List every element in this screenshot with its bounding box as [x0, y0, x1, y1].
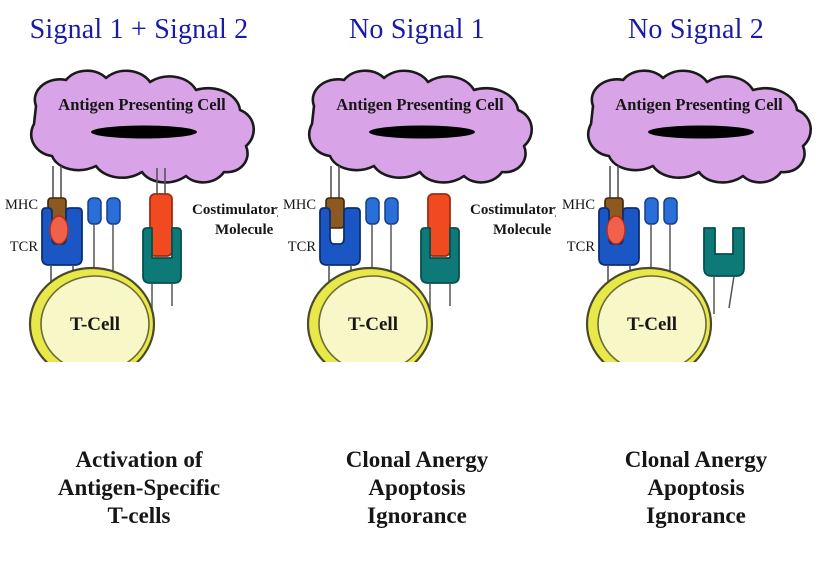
- costimulatory-label-line1: Costimulatory: [192, 202, 278, 218]
- outcome-line: Apoptosis: [278, 474, 556, 502]
- apc-nucleus: [369, 126, 475, 139]
- outcome-text: Clonal AnergyApoptosisIgnorance: [557, 446, 835, 530]
- outcome-line: T-cells: [0, 502, 278, 530]
- antigen-peptide: [607, 216, 625, 244]
- tcell-label: T-Cell: [70, 314, 120, 335]
- panel-no-signal-1: No Signal 1Antigen Presenting CellT-Cell…: [278, 0, 556, 571]
- cd28-receptor: [704, 228, 744, 276]
- tcell-label: T-Cell: [348, 314, 398, 335]
- apc-nucleus: [91, 126, 197, 139]
- panel-no-signal-2: No Signal 2Antigen Presenting CellT-Cell…: [557, 0, 835, 571]
- costimulatory-molecule: [428, 194, 450, 256]
- adhesion-molecule-1: [88, 198, 101, 224]
- costimulatory-label-line1: Costimulatory: [470, 202, 556, 218]
- tcell-label: T-Cell: [627, 314, 677, 335]
- mhc-label: MHC: [283, 197, 316, 213]
- panel-title: No Signal 2: [557, 14, 835, 46]
- outcome-line: Ignorance: [278, 502, 556, 530]
- panel-title: Signal 1 + Signal 2: [0, 14, 278, 46]
- adhesion-molecule-2: [107, 198, 120, 224]
- outcome-line: Clonal Anergy: [557, 446, 835, 474]
- apc-label: Antigen Presenting Cell: [58, 95, 226, 114]
- tcr-label: TCR: [567, 239, 596, 255]
- diagram-stage: Antigen Presenting CellT-CellMHCTCR: [557, 62, 835, 362]
- mhc-label: MHC: [562, 197, 595, 213]
- adhesion-molecule-2: [664, 198, 677, 224]
- apc-label: Antigen Presenting Cell: [615, 95, 783, 114]
- tcr-label: TCR: [10, 239, 39, 255]
- tcell-activation-figure: Signal 1 + Signal 2Antigen Presenting Ce…: [0, 0, 835, 571]
- outcome-line: Activation of: [0, 446, 278, 474]
- diagram-stage: Antigen Presenting CellT-CellMHCTCRCosti…: [0, 62, 278, 362]
- adhesion-molecule-2: [385, 198, 398, 224]
- cell-interaction-diagram: Antigen Presenting CellT-CellMHCTCRCosti…: [0, 62, 278, 362]
- cell-interaction-diagram: Antigen Presenting CellT-CellMHCTCR: [557, 62, 835, 362]
- costimulatory-label-line2: Molecule: [493, 222, 552, 238]
- outcome-line: Clonal Anergy: [278, 446, 556, 474]
- costimulatory-molecule: [150, 194, 172, 256]
- cell-interaction-diagram: Antigen Presenting CellT-CellMHCTCRCosti…: [278, 62, 556, 362]
- adhesion-molecule-1: [645, 198, 658, 224]
- tcr-label: TCR: [288, 239, 317, 255]
- outcome-line: Apoptosis: [557, 474, 835, 502]
- diagram-stage: Antigen Presenting CellT-CellMHCTCRCosti…: [278, 62, 556, 362]
- costimulatory-label-line2: Molecule: [215, 222, 274, 238]
- apc-nucleus: [648, 126, 754, 139]
- panel-title: No Signal 1: [278, 14, 556, 46]
- panel-signal-1-plus-2: Signal 1 + Signal 2Antigen Presenting Ce…: [0, 0, 278, 571]
- outcome-line: Antigen-Specific: [0, 474, 278, 502]
- outcome-line: Ignorance: [557, 502, 835, 530]
- outcome-text: Activation ofAntigen-SpecificT-cells: [0, 446, 278, 530]
- apc-label: Antigen Presenting Cell: [336, 95, 504, 114]
- outcome-text: Clonal AnergyApoptosisIgnorance: [278, 446, 556, 530]
- cd28-leg-right: [729, 276, 734, 308]
- mhc-label: MHC: [5, 197, 38, 213]
- adhesion-molecule-1: [366, 198, 379, 224]
- antigen-peptide: [50, 216, 68, 244]
